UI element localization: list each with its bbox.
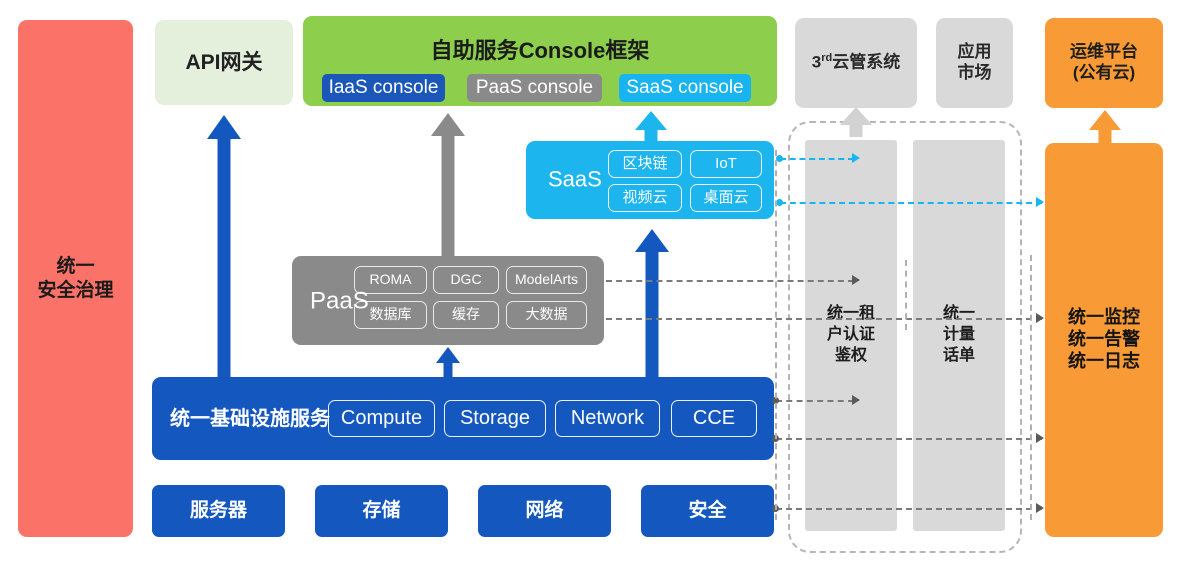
architecture-diagram: 统一 安全治理 API网关 自助服务Console框架 IaaS console…: [0, 0, 1200, 574]
unified-metering-column: 统一 计量 话单: [913, 140, 1005, 531]
line-paas-to-ops: [606, 318, 1042, 320]
arrow-to-ops-platform: [1089, 110, 1121, 144]
line-hardware-to-ops: [776, 508, 1042, 510]
saas-service-blockchain[interactable]: 区块链: [608, 150, 682, 178]
paas-service-cache[interactable]: 缓存: [433, 301, 499, 329]
arrow-paas-to-console: [431, 113, 465, 256]
app-market-line2: 市场: [958, 63, 992, 84]
paas-console-label: PaaS console: [476, 76, 593, 99]
ops-platform-line2: (公有云): [1073, 63, 1135, 84]
paas-layer-box: PaaS ROMA DGC ModelArts 数据库 缓存 大数据: [292, 256, 604, 345]
line-saas-to-ops: [780, 202, 1042, 204]
security-governance-line2: 安全治理: [37, 279, 113, 302]
paas-service-bigdata[interactable]: 大数据: [506, 301, 587, 329]
unified-tenant-auth-line2: 户认证: [827, 325, 875, 346]
line-paas-to-auth: [606, 280, 854, 282]
line-arrowhead: [1036, 433, 1044, 443]
unified-metering-line2: 计量: [943, 325, 975, 346]
paas-console-button[interactable]: PaaS console: [467, 74, 602, 102]
paas-service-modelarts[interactable]: ModelArts: [506, 266, 587, 294]
saas-service-desktop-cloud[interactable]: 桌面云: [690, 184, 762, 212]
unified-ops-line2: 统一告警: [1068, 329, 1140, 351]
unified-tenant-auth-line1: 统一租: [827, 304, 875, 325]
line-vertical-mid-rail: [905, 260, 907, 330]
app-market-box[interactable]: 应用 市场: [936, 18, 1013, 108]
ops-platform-line1: 运维平台: [1070, 42, 1138, 63]
line-infra-to-ops: [776, 438, 1042, 440]
iaas-console-label: IaaS console: [329, 76, 439, 99]
api-gateway-box[interactable]: API网关: [155, 20, 293, 105]
infrastructure-layer-label: 统一基础设施服务: [170, 406, 330, 430]
unified-ops-line1: 统一监控: [1068, 307, 1140, 329]
third-party-cloud-mgmt-label: 3rd云管系统: [812, 52, 900, 73]
line-dot: [776, 199, 783, 206]
infra-service-storage[interactable]: Storage: [444, 400, 546, 437]
unified-ops-column: 统一监控 统一告警 统一日志: [1045, 143, 1163, 537]
saas-service-iot[interactable]: IoT: [690, 150, 762, 178]
paas-service-dgc[interactable]: DGC: [433, 266, 499, 294]
arrow-infra-to-paas: [436, 347, 460, 377]
line-vertical-left-rail: [775, 150, 777, 520]
line-arrowhead: [1036, 313, 1044, 323]
line-infra-to-auth: [776, 400, 854, 402]
third-party-cloud-mgmt-box[interactable]: 3rd云管系统: [795, 18, 917, 108]
saas-layer-label: SaaS: [548, 167, 602, 194]
security-governance-column: 统一 安全治理: [18, 20, 133, 537]
hardware-item-security[interactable]: 安全: [641, 485, 774, 537]
infra-service-cce[interactable]: CCE: [671, 400, 757, 437]
hardware-item-network[interactable]: 网络: [478, 485, 611, 537]
unified-tenant-auth-column: 统一租 户认证 鉴权: [805, 140, 897, 531]
hardware-item-server[interactable]: 服务器: [152, 485, 285, 537]
paas-service-database[interactable]: 数据库: [354, 301, 427, 329]
unified-ops-line3: 统一日志: [1068, 351, 1140, 373]
line-arrowhead: [852, 275, 860, 285]
arrow-saas-to-console: [635, 111, 667, 141]
line-arrowhead: [852, 395, 860, 405]
infra-service-network[interactable]: Network: [555, 400, 660, 437]
ops-platform-box[interactable]: 运维平台 (公有云): [1045, 18, 1163, 108]
line-arrowhead: [1036, 197, 1044, 207]
app-market-line1: 应用: [958, 42, 992, 63]
arrow-infra-to-saas: [635, 229, 669, 377]
paas-service-roma[interactable]: ROMA: [354, 266, 427, 294]
arrow-infra-to-api-gateway: [207, 115, 241, 377]
api-gateway-label: API网关: [185, 50, 262, 76]
console-framework-box: 自助服务Console框架 IaaS console PaaS console …: [303, 16, 777, 106]
arrow-to-third-party-cloud: [840, 107, 872, 137]
line-dot: [776, 155, 783, 162]
unified-tenant-auth-line3: 鉴权: [835, 346, 867, 367]
unified-metering-line3: 话单: [943, 346, 975, 367]
infra-service-compute[interactable]: Compute: [328, 400, 435, 437]
saas-console-button[interactable]: SaaS console: [619, 74, 751, 102]
saas-console-label: SaaS console: [626, 76, 743, 99]
security-governance-line1: 统一: [56, 255, 94, 278]
console-framework-title: 自助服务Console框架: [303, 38, 777, 65]
line-arrowhead: [1036, 503, 1044, 513]
iaas-console-button[interactable]: IaaS console: [322, 74, 445, 102]
line-vertical-right-rail: [1030, 255, 1032, 520]
hardware-item-storage[interactable]: 存储: [315, 485, 448, 537]
saas-layer-box: SaaS 区块链 IoT 视频云 桌面云: [526, 141, 774, 219]
line-saas-to-auth: [780, 158, 854, 160]
line-arrowhead: [852, 153, 860, 163]
unified-metering-line1: 统一: [943, 304, 975, 325]
infrastructure-layer-box: 统一基础设施服务 Compute Storage Network CCE: [152, 377, 774, 460]
saas-service-video-cloud[interactable]: 视频云: [608, 184, 682, 212]
